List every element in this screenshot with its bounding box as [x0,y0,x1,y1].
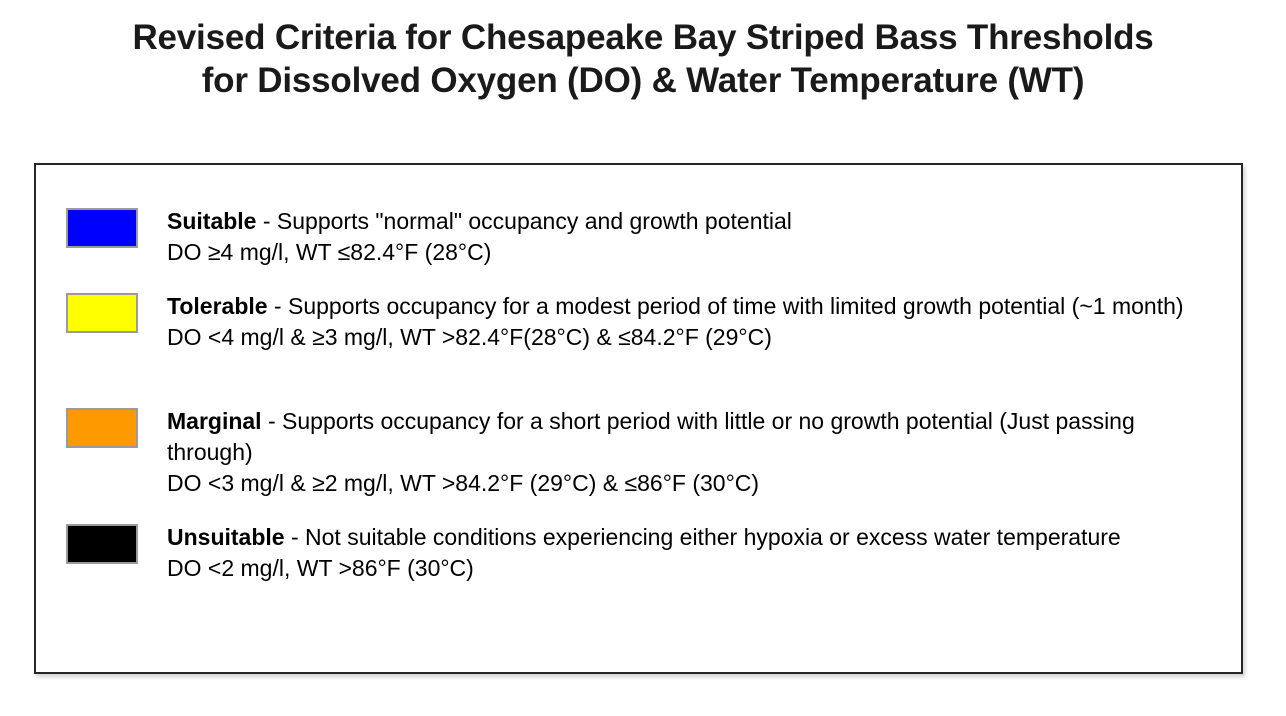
legend-description: Supports occupancy for a modest period o… [288,293,1184,319]
legend-label: Marginal [167,408,262,434]
legend-separator: - [256,208,276,234]
legend-row-text: Suitable - Supports "normal" occupancy a… [167,206,1221,268]
legend-label: Unsuitable [167,524,285,550]
legend-separator: - [268,293,288,319]
legend-row-text: Unsuitable - Not suitable conditions exp… [167,522,1221,584]
legend-criteria: DO <2 mg/l, WT >86°F (30°C) [167,553,1221,584]
color-swatch [66,293,138,333]
slide-title: Revised Criteria for Chesapeake Bay Stri… [0,16,1286,102]
legend-criteria: DO <3 mg/l & ≥2 mg/l, WT >84.2°F (29°C) … [167,468,1221,499]
legend-description: Not suitable conditions experiencing eit… [305,524,1121,550]
legend-criteria: DO <4 mg/l & ≥3 mg/l, WT >82.4°F(28°C) &… [167,322,1221,353]
legend-description: Supports "normal" occupancy and growth p… [277,208,792,234]
color-swatch [66,524,138,564]
legend-row-text: Marginal - Supports occupancy for a shor… [167,406,1221,499]
legend-separator: - [285,524,305,550]
legend-criteria: DO ≥4 mg/l, WT ≤82.4°F (28°C) [167,237,1221,268]
legend-description: Supports occupancy for a short period wi… [167,408,1135,465]
legend-separator: - [262,408,282,434]
legend-row-text: Tolerable - Supports occupancy for a mod… [167,291,1221,353]
color-swatch [66,408,138,448]
color-swatch [66,208,138,248]
legend-label: Suitable [167,208,256,234]
legend-label: Tolerable [167,293,268,319]
legend-panel: Suitable - Supports "normal" occupancy a… [34,163,1243,674]
